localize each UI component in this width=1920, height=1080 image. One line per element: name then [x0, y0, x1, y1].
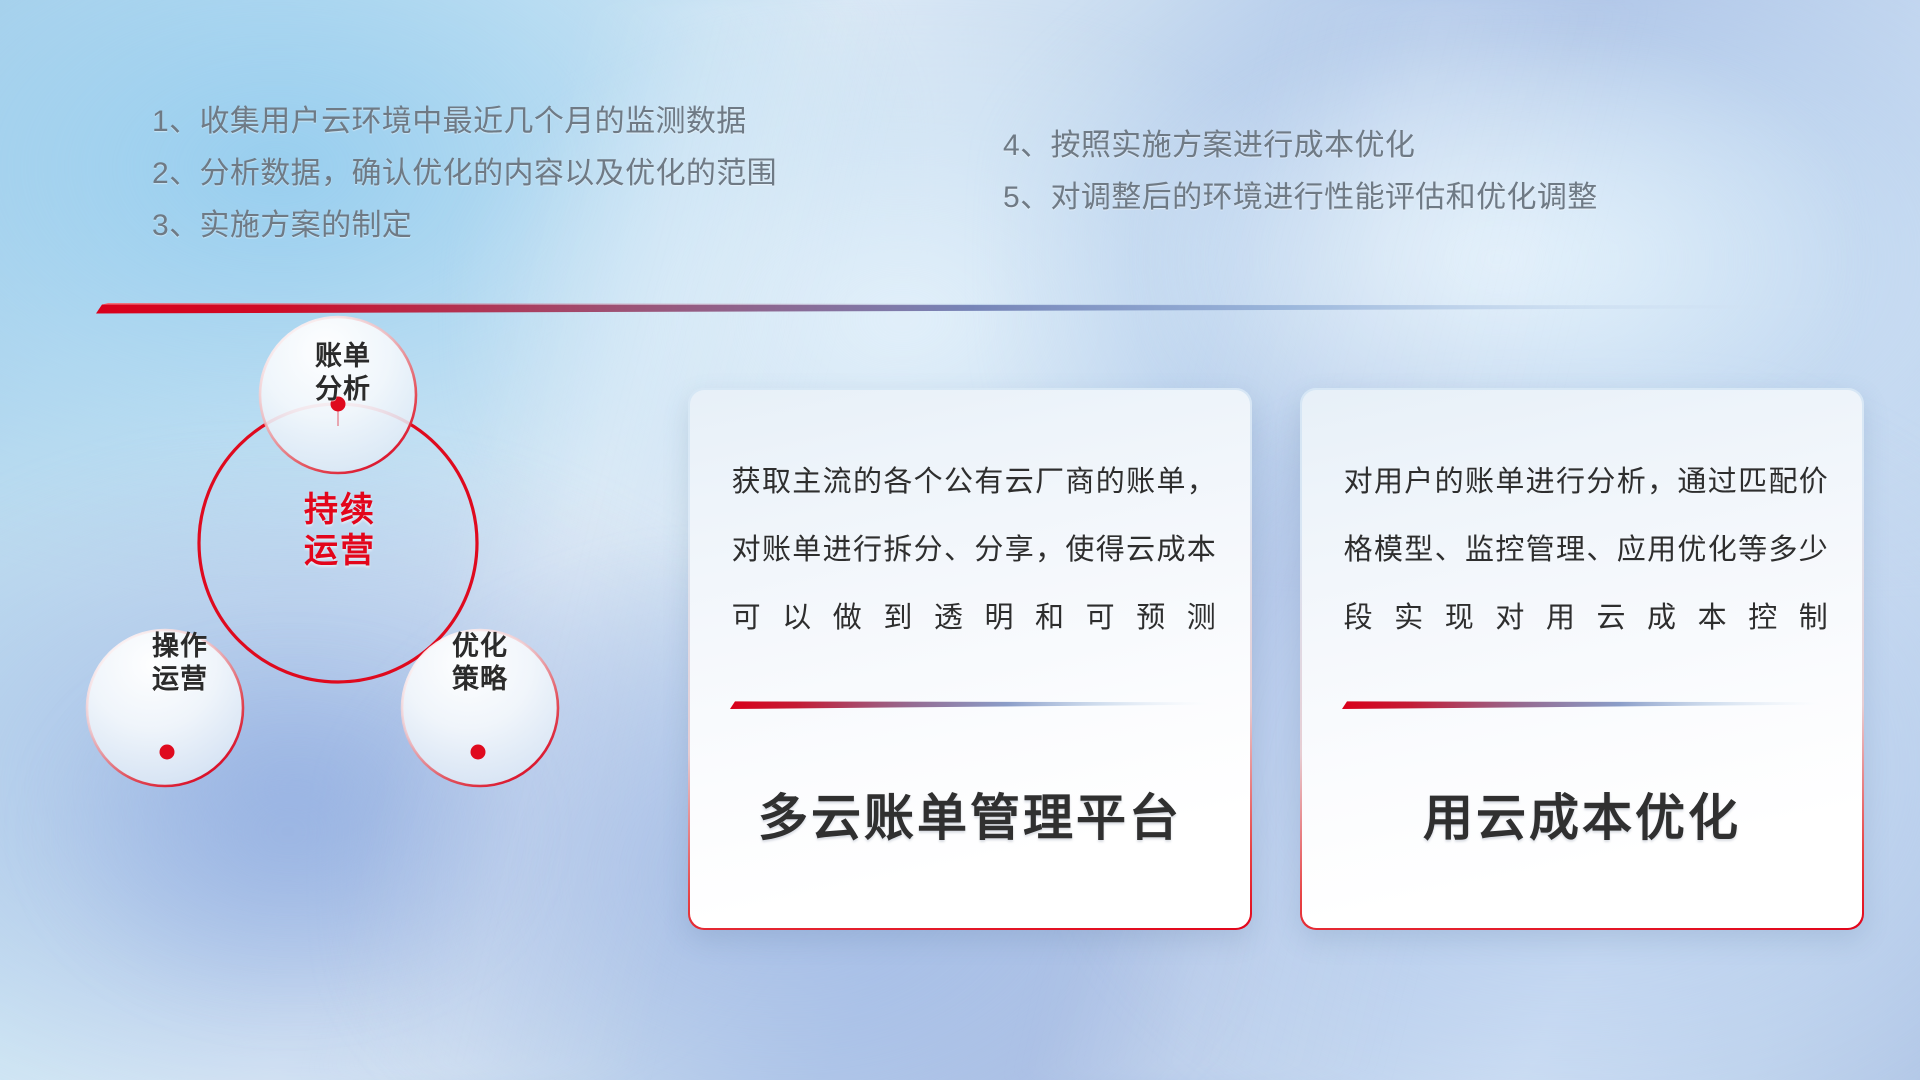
venn-label-continuous-ops: 持续 运营 [250, 490, 430, 573]
card-title: 用云成本优化 [1302, 778, 1863, 850]
venn-diagram: 账单 分析 持续 运营 操作 运营 优化 策略 [70, 300, 590, 800]
card-title: 多云账单管理平台 [690, 778, 1251, 850]
card-inner: 获取主流的各个公有云厂商的账单，对账单进行拆分、分享，使得云成本可以做到透明和可… [690, 390, 1251, 929]
card-cloud-cost-optimization[interactable]: 对用户的账单进行分析，通过匹配价格模型、监控管理、应用优化等多少段实现对用云成本… [1300, 388, 1864, 930]
venn-label-bill-analysis: 账单 分析 [268, 340, 418, 406]
venn-label-operations: 操作 运营 [105, 630, 255, 696]
venn-node-bottom-right [471, 745, 486, 760]
card-body: 获取主流的各个公有云厂商的账单，对账单进行拆分、分享，使得云成本可以做到透明和可… [732, 448, 1217, 652]
venn-label-optimization: 优化 策略 [405, 630, 555, 696]
bullet-item: 2、分析数据，确认优化的内容以及优化的范围 [152, 148, 777, 200]
card-body: 对用户的账单进行分析，通过匹配价格模型、监控管理、应用优化等多少段实现对用云成本… [1344, 448, 1829, 652]
slide-canvas: 1、收集用户云环境中最近几个月的监测数据 2、分析数据，确认优化的内容以及优化的… [0, 0, 1920, 1080]
bullet-item: 5、对调整后的环境进行性能评估和优化调整 [1003, 172, 1598, 224]
card-description: 获取主流的各个公有云厂商的账单，对账单进行拆分、分享，使得云成本可以做到透明和可… [732, 448, 1217, 652]
bullet-item: 1、收集用户云环境中最近几个月的监测数据 [152, 96, 777, 148]
bullet-column-left: 1、收集用户云环境中最近几个月的监测数据 2、分析数据，确认优化的内容以及优化的… [152, 96, 777, 252]
card-divider [730, 698, 1208, 710]
bullet-item: 4、按照实施方案进行成本优化 [1003, 120, 1598, 172]
card-description: 对用户的账单进行分析，通过匹配价格模型、监控管理、应用优化等多少段实现对用云成本… [1344, 448, 1829, 652]
bullet-column-right: 4、按照实施方案进行成本优化 5、对调整后的环境进行性能评估和优化调整 [1003, 120, 1598, 224]
card-inner: 对用户的账单进行分析，通过匹配价格模型、监控管理、应用优化等多少段实现对用云成本… [1302, 390, 1863, 929]
venn-node-bottom-left [160, 745, 175, 760]
card-divider [1342, 698, 1820, 710]
card-multicloud-billing[interactable]: 获取主流的各个公有云厂商的账单，对账单进行拆分、分享，使得云成本可以做到透明和可… [688, 388, 1252, 930]
bullet-item: 3、实施方案的制定 [152, 200, 777, 252]
